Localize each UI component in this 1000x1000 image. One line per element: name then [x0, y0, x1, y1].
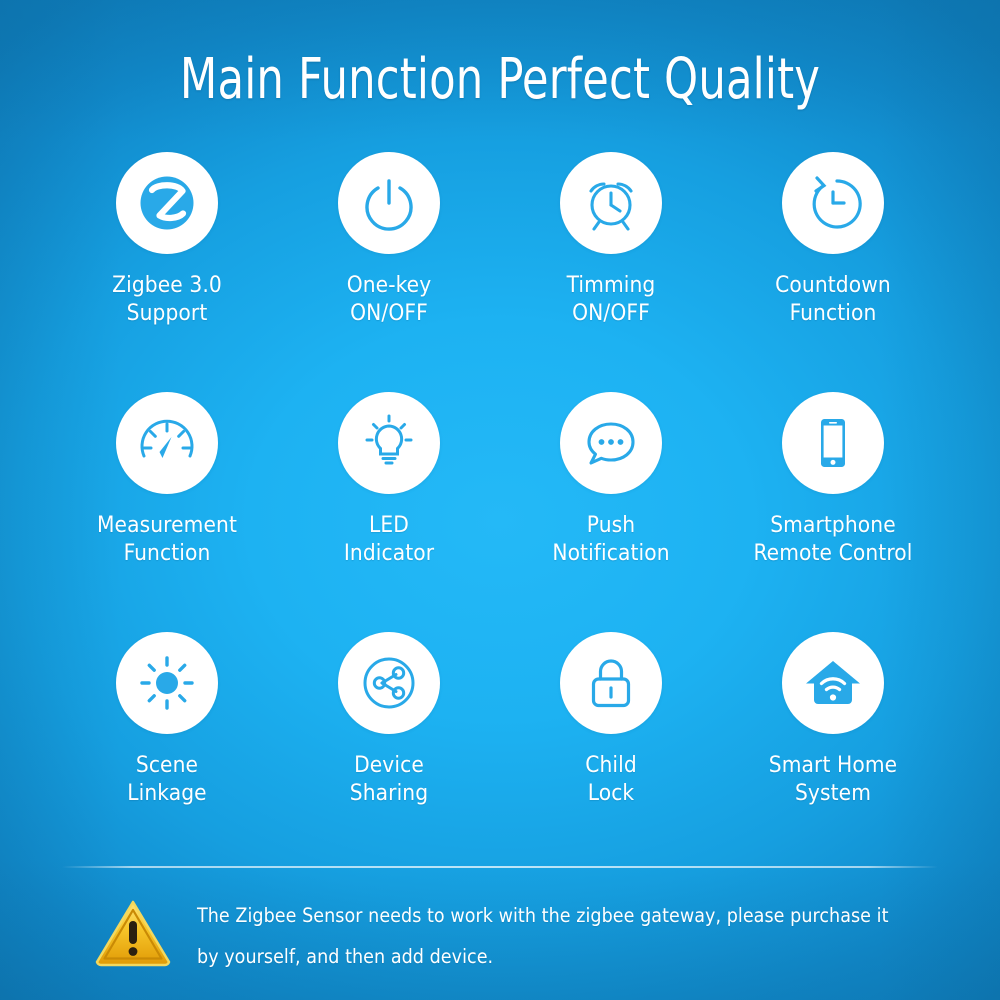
feature-row: Measurement Function — [56, 392, 944, 632]
caption-line-2: Sharing — [350, 779, 428, 807]
feature-item-countdown-function: Countdown Function — [722, 152, 944, 392]
icon-disc — [116, 152, 218, 254]
caption-line-1: Timming — [567, 272, 656, 298]
feature-grid: Zigbee 3.0 Support One-key ON/OFF — [56, 152, 944, 847]
caption-line-2: System — [769, 779, 897, 807]
caption-line-2: Support — [112, 299, 222, 327]
icon-disc — [338, 392, 440, 494]
feature-item-one-key-onoff: One-key ON/OFF — [278, 152, 500, 392]
promo-banner: Main Function Perfect Quality Zigbee 3.0 — [0, 0, 1000, 1000]
feature-caption: Measurement Function — [97, 511, 237, 567]
feature-item-scene-linkage: Scene Linkage — [56, 632, 278, 847]
feature-caption: Smartphone Remote Control — [754, 511, 913, 567]
light-bulb-icon — [359, 413, 419, 473]
caption-line-1: Measurement — [97, 512, 237, 538]
feature-caption: One-key ON/OFF — [347, 271, 432, 327]
footer-line-2: by yourself, and then add device. — [197, 936, 889, 977]
sun-brightness-icon — [137, 653, 197, 713]
feature-row: Zigbee 3.0 Support One-key ON/OFF — [56, 152, 944, 392]
feature-item-smart-home-system: Smart Home System — [722, 632, 944, 847]
share-network-icon — [356, 650, 422, 716]
page-title: Main Function Perfect Quality — [70, 47, 930, 112]
feature-item-smartphone-remote-control: Smartphone Remote Control — [722, 392, 944, 632]
caption-line-1: Device — [354, 752, 424, 778]
feature-item-measurement-function: Measurement Function — [56, 392, 278, 632]
feature-item-led-indicator: LED Indicator — [278, 392, 500, 632]
icon-disc — [782, 632, 884, 734]
gauge-icon — [134, 410, 200, 476]
caption-line-2: Notification — [552, 539, 669, 567]
feature-item-zigbee-support: Zigbee 3.0 Support — [56, 152, 278, 392]
power-icon — [358, 172, 420, 234]
speech-bubble-icon — [579, 411, 643, 475]
smart-home-wifi-icon — [800, 650, 866, 716]
caption-line-1: Child — [585, 752, 637, 778]
feature-caption: LED Indicator — [344, 511, 434, 567]
icon-disc — [560, 392, 662, 494]
caption-line-1: Scene — [136, 752, 198, 778]
caption-line-2: Lock — [585, 779, 637, 807]
icon-disc — [782, 152, 884, 254]
feature-item-child-lock: Child Lock — [500, 632, 722, 847]
caption-line-2: Function — [775, 299, 891, 327]
icon-disc — [116, 632, 218, 734]
caption-line-1: LED — [369, 512, 409, 538]
feature-caption: Countdown Function — [775, 271, 891, 327]
padlock-icon — [581, 653, 641, 713]
feature-caption: Zigbee 3.0 Support — [112, 271, 222, 327]
caption-line-1: Zigbee 3.0 — [112, 272, 222, 298]
caption-line-2: Function — [97, 539, 237, 567]
caption-line-1: Countdown — [775, 272, 891, 298]
caption-line-1: One-key — [347, 272, 432, 298]
caption-line-2: ON/OFF — [567, 299, 656, 327]
feature-caption: Timming ON/OFF — [567, 271, 656, 327]
icon-disc — [782, 392, 884, 494]
caption-line-1: Smart Home — [769, 752, 897, 778]
zigbee-logo-icon — [131, 167, 203, 239]
feature-caption: Smart Home System — [769, 751, 897, 807]
icon-disc — [116, 392, 218, 494]
footer-text: The Zigbee Sensor needs to work with the… — [197, 893, 889, 977]
feature-item-timing-onoff: Timming ON/OFF — [500, 152, 722, 392]
feature-caption: Scene Linkage — [127, 751, 206, 807]
caption-line-1: Push — [587, 512, 635, 538]
smartphone-icon — [803, 413, 863, 473]
icon-disc — [560, 632, 662, 734]
feature-caption: Child Lock — [585, 751, 637, 807]
alarm-clock-icon — [579, 171, 643, 235]
icon-disc — [560, 152, 662, 254]
caption-line-2: ON/OFF — [347, 299, 432, 327]
footer-note: The Zigbee Sensor needs to work with the… — [95, 893, 925, 977]
feature-caption: Device Sharing — [350, 751, 428, 807]
feature-row: Scene Linkage — [56, 632, 944, 847]
icon-disc — [338, 632, 440, 734]
caption-line-2: Remote Control — [754, 539, 913, 567]
footer-divider — [62, 866, 938, 868]
footer-line-1: The Zigbee Sensor needs to work with the… — [197, 895, 889, 936]
feature-item-device-sharing: Device Sharing — [278, 632, 500, 847]
feature-caption: Push Notification — [552, 511, 669, 567]
countdown-timer-icon — [802, 172, 864, 234]
caption-line-2: Linkage — [127, 779, 206, 807]
caption-line-2: Indicator — [344, 539, 434, 567]
feature-item-push-notification: Push Notification — [500, 392, 722, 632]
caption-line-1: Smartphone — [770, 512, 896, 538]
warning-triangle-icon — [95, 899, 171, 972]
icon-disc — [338, 152, 440, 254]
